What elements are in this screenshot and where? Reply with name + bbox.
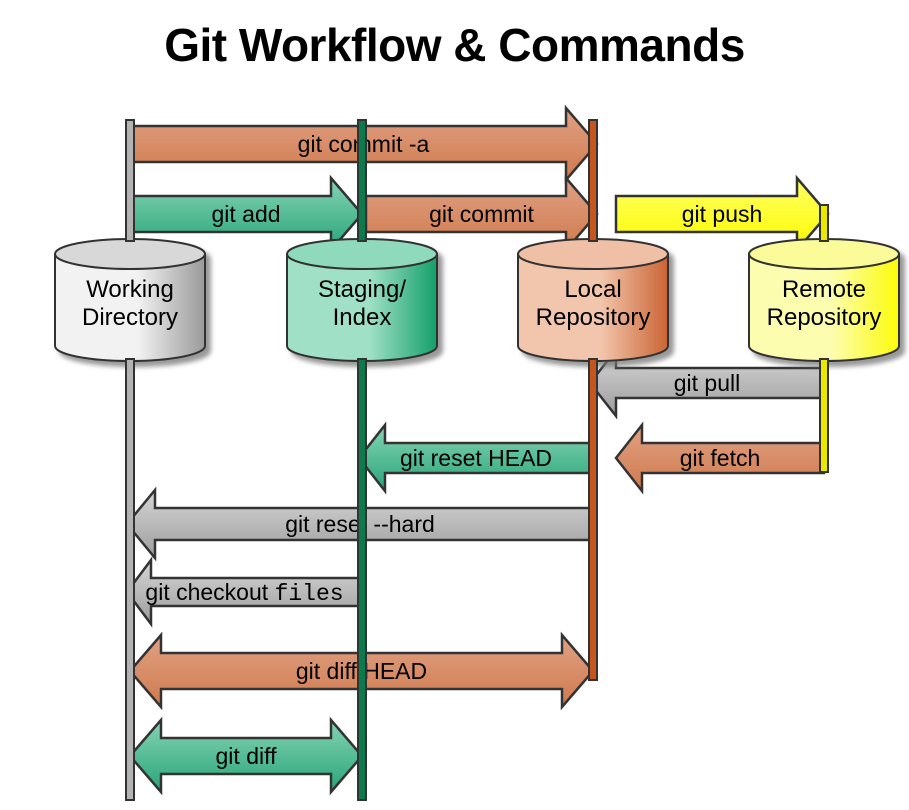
arrows-layer: git commit -agit addgit commitgit pushgi… <box>127 108 828 792</box>
node-label-line2: Index <box>333 304 392 331</box>
lifeline-staging-above <box>358 120 366 241</box>
arrow-label: git add <box>211 201 280 227</box>
arrow-git-commit: git commit <box>366 178 597 250</box>
node-label-line2: Repository <box>536 304 651 331</box>
arrow-label: git push <box>682 201 763 227</box>
lifeline-working-below <box>126 359 134 800</box>
lifeline-local-above <box>589 120 597 241</box>
arrow-git-diff: git diff <box>130 720 362 792</box>
lifeline-staging-below <box>358 359 366 800</box>
lifeline-remote-below <box>820 359 828 472</box>
git-workflow-diagram: Git Workflow & Commands git commit -agit… <box>0 0 909 810</box>
arrow-label: git reset HEAD <box>400 445 552 471</box>
node-label-line1: Local <box>564 276 621 303</box>
arrow-label: git diff <box>216 743 278 769</box>
arrow-label: git checkout files <box>145 579 343 607</box>
arrow-git-reset-head: git reset HEAD <box>359 425 593 491</box>
node-local: LocalRepository <box>518 239 668 361</box>
node-label-line1: Remote <box>782 276 866 303</box>
arrow-label: git fetch <box>680 445 761 471</box>
diagram-canvas: git commit -agit addgit commitgit pushgi… <box>0 0 909 810</box>
node-label-line1: Working <box>86 276 174 303</box>
arrow-git-add: git add <box>130 178 362 250</box>
node-staging: Staging/Index <box>287 239 437 361</box>
lifeline-local-below <box>589 359 597 680</box>
node-label-line2: Repository <box>767 304 882 331</box>
node-label-line2: Directory <box>82 304 178 331</box>
node-working: WorkingDirectory <box>55 239 205 361</box>
lifeline-remote-above <box>820 205 828 241</box>
arrow-git-fetch: git fetch <box>616 425 824 491</box>
arrow-label: git pull <box>674 370 740 396</box>
arrow-label: git commit <box>429 201 534 227</box>
lifeline-working-above <box>126 120 134 241</box>
arrow-git-checkout: git checkout files <box>127 560 362 624</box>
node-remote: RemoteRepository <box>749 239 899 361</box>
node-label-line1: Staging/ <box>318 276 406 303</box>
